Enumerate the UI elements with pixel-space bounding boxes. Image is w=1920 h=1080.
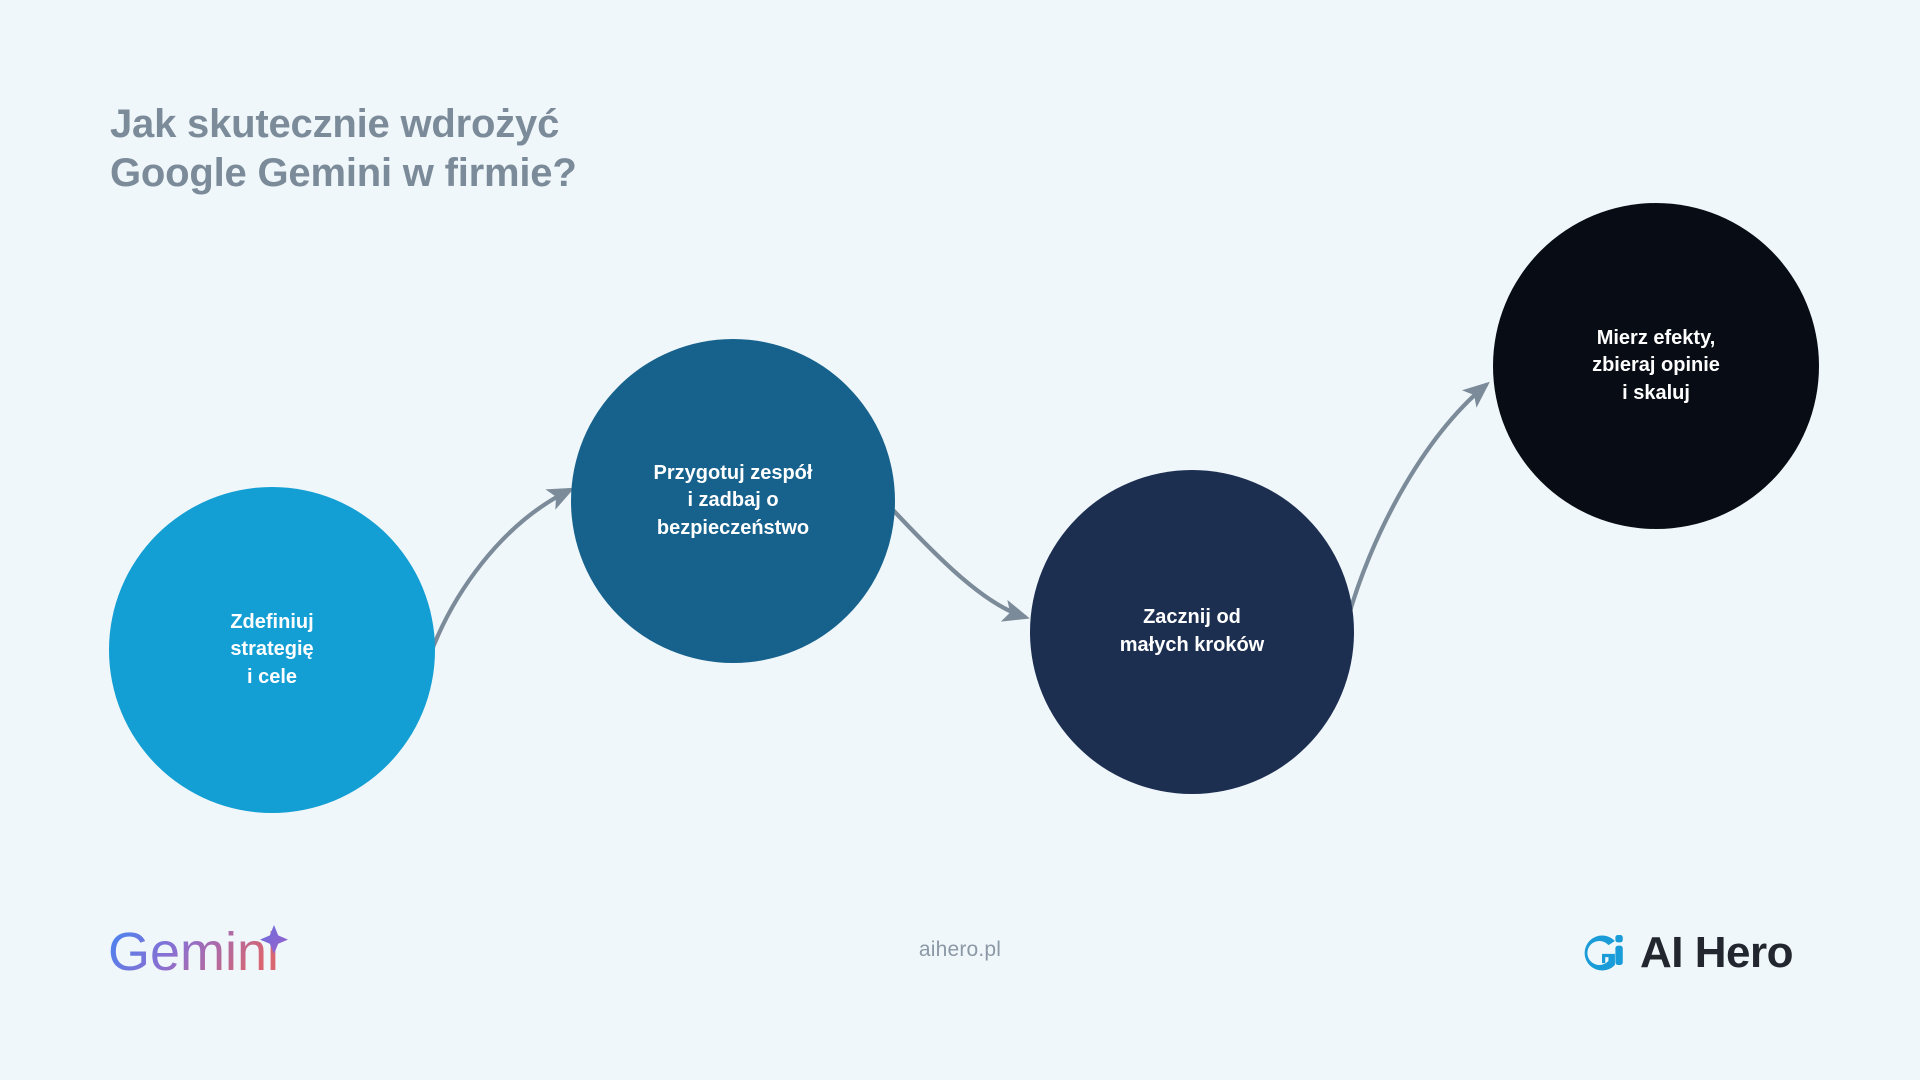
page-title-line-1: Jak skutecznie wdrożyć — [110, 100, 870, 149]
step-node-3-label: Zacznij od małych kroków — [1110, 604, 1275, 659]
page-title: Jak skutecznie wdrożyć Google Gemini w f… — [110, 100, 870, 198]
step-node-2-label: Przygotuj zespół i zadbaj o bezpieczeńst… — [644, 460, 823, 543]
page-title-line-2: Google Gemini w firmie? — [110, 149, 870, 198]
aihero-wordmark: AI Hero — [1640, 931, 1793, 975]
step-node-3[interactable]: Zacznij od małych kroków — [1030, 470, 1354, 794]
gemini-wordmark: Gemini — [108, 922, 279, 982]
step-node-1-label: Zdefiniuj strategię i cele — [220, 609, 323, 692]
step-node-2[interactable]: Przygotuj zespół i zadbaj o bezpieczeńst… — [571, 339, 895, 663]
gemini-logo-svg: Gemini — [108, 920, 318, 986]
footer-site-label: aihero.pl — [919, 938, 1001, 962]
step-node-4[interactable]: Mierz efekty, zbieraj opinie i skaluj — [1493, 203, 1819, 529]
step-node-1[interactable]: Zdefiniuj strategię i cele — [109, 487, 435, 813]
gemini-logo: Gemini — [108, 920, 318, 986]
connector-1-to-2 — [430, 490, 570, 655]
aihero-mark-icon — [1578, 929, 1626, 977]
connector-2-to-3 — [893, 510, 1025, 617]
connector-3-to-4 — [1348, 385, 1486, 618]
step-node-4-label: Mierz efekty, zbieraj opinie i skaluj — [1582, 325, 1730, 408]
infographic-canvas: Jak skutecznie wdrożyć Google Gemini w f… — [0, 0, 1920, 1080]
aihero-logo: AI Hero — [1578, 922, 1838, 984]
